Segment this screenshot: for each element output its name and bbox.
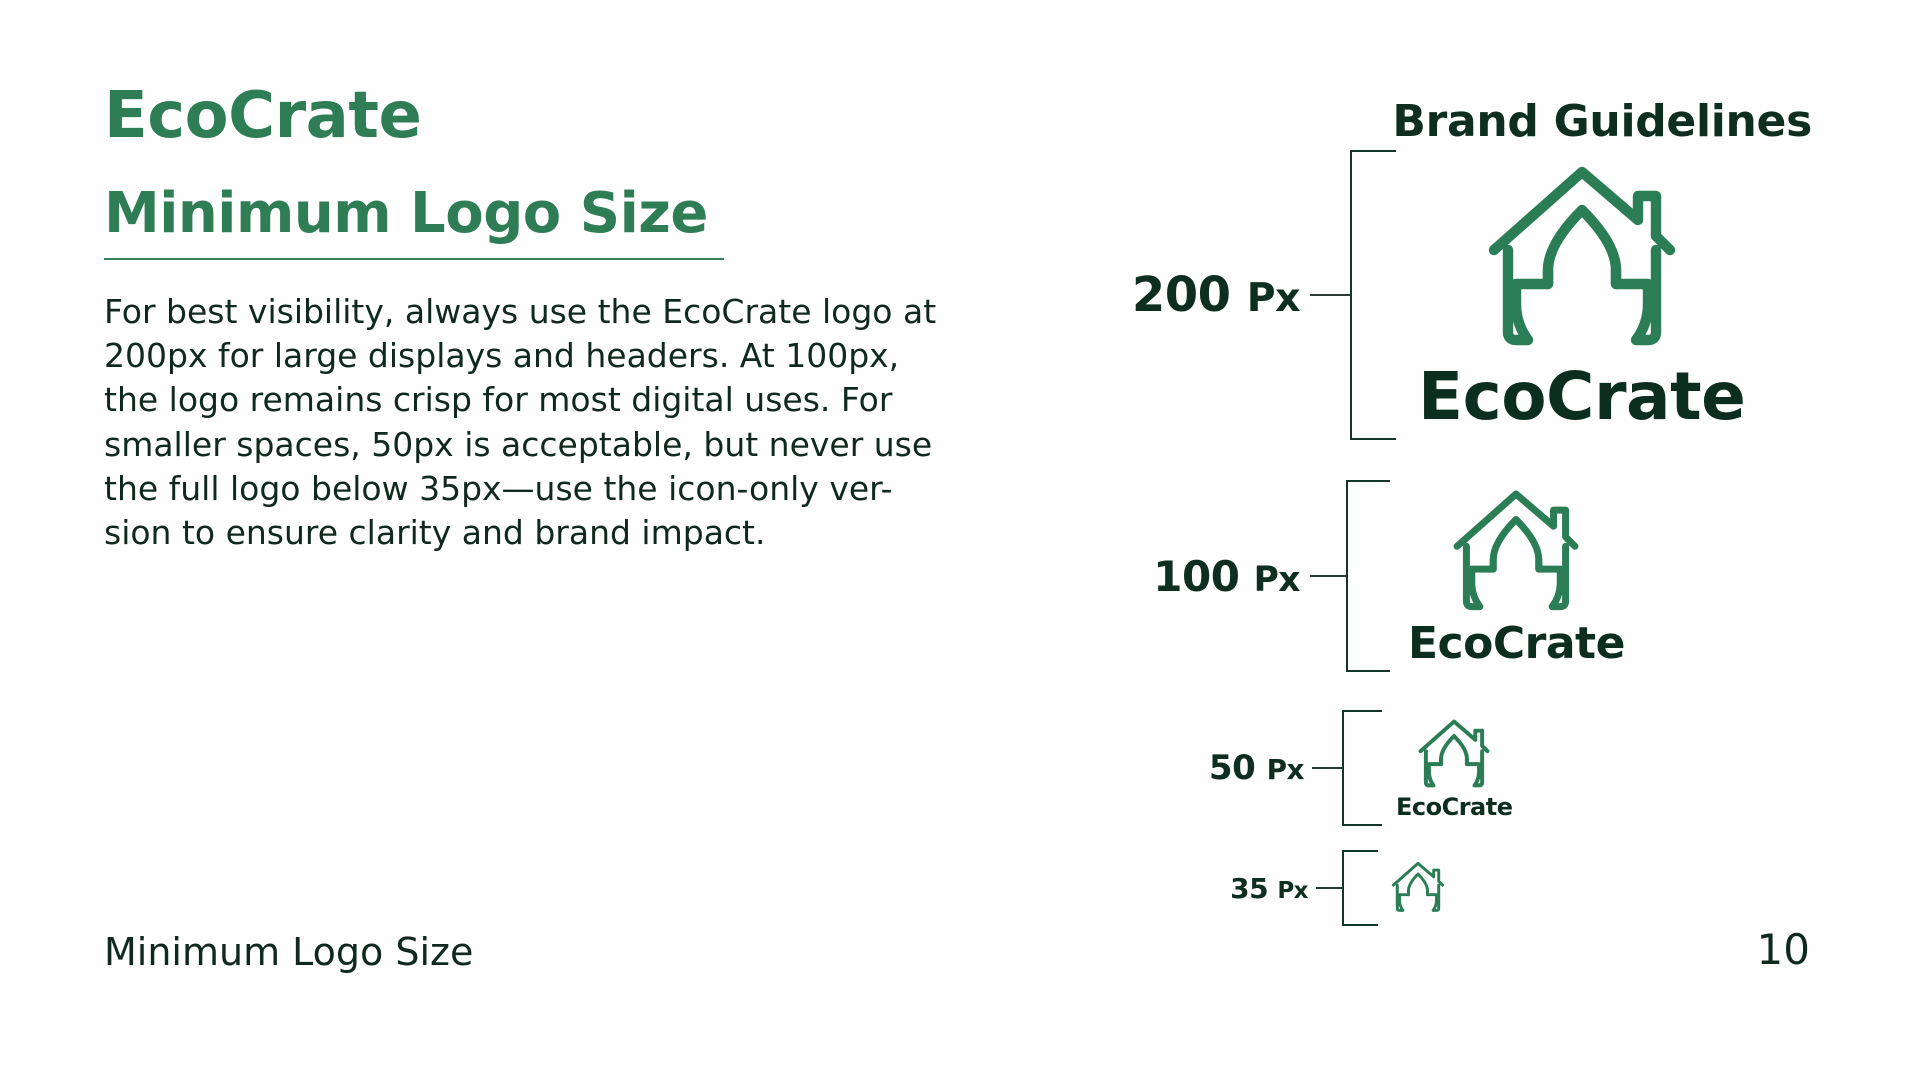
logo-wordmark-50: EcoCrate (1396, 795, 1513, 819)
ecocrate-house-leaf-icon (1482, 160, 1682, 360)
measure-bracket-35 (1342, 850, 1378, 926)
size-label-unit: Px (1277, 878, 1308, 904)
size-label-unit: Px (1247, 275, 1300, 321)
size-spec-row-35: 35 Px (1130, 850, 1446, 926)
leader-tick-35 (1316, 887, 1342, 889)
leader-tick-200 (1310, 294, 1350, 296)
size-label-number: 35 (1230, 872, 1268, 905)
measure-bracket-200 (1350, 150, 1396, 440)
ecocrate-house-leaf-icon (1416, 717, 1492, 793)
logo-wordmark-200: EcoCrate (1418, 364, 1745, 430)
heading-underline-rule (104, 258, 724, 260)
logo-lockup-200: EcoCrate (1418, 160, 1745, 430)
size-label-35: 35 Px (1130, 872, 1308, 905)
left-content-column: EcoCrate Minimum Logo Size For best visi… (104, 84, 984, 555)
body-line: 200px for large displays and headers. At… (104, 334, 966, 378)
size-label-number: 50 (1209, 748, 1255, 788)
size-spec-row-100: 100 Px EcoCrate (1040, 480, 1625, 672)
leader-tick-100 (1310, 575, 1346, 577)
size-label-unit: Px (1254, 560, 1300, 600)
slide-canvas: EcoCrate Minimum Logo Size For best visi… (0, 0, 1920, 1080)
page-number: 10 (1757, 925, 1810, 974)
size-label-50: 50 Px (1094, 748, 1304, 788)
footer-section-label: Minimum Logo Size (104, 930, 473, 974)
size-label-number: 100 (1153, 552, 1239, 601)
page-title: Minimum Logo Size (104, 186, 984, 242)
size-label-number: 200 (1132, 267, 1231, 323)
size-spec-row-50: 50 Px EcoCrate (1094, 710, 1513, 826)
ecocrate-house-leaf-icon (1449, 486, 1583, 620)
body-line: the logo remains crisp for most digital … (104, 378, 966, 422)
size-label-100: 100 Px (1040, 552, 1300, 601)
brand-title: EcoCrate (104, 84, 984, 148)
size-label-200: 200 Px (1000, 267, 1300, 323)
body-line: sion to ensure clarity and brand impact. (104, 511, 966, 555)
body-paragraph: For best visibility, always use the EcoC… (104, 290, 966, 555)
body-line: the full logo below 35px—use the icon-on… (104, 467, 966, 511)
logo-lockup-100: EcoCrate (1408, 486, 1625, 666)
body-line: smaller spaces, 50px is acceptable, but … (104, 423, 966, 467)
ecocrate-house-leaf-icon (1390, 860, 1446, 916)
measure-bracket-50 (1342, 710, 1382, 826)
logo-wordmark-100: EcoCrate (1408, 622, 1625, 666)
body-line: For best visibility, always use the EcoC… (104, 290, 966, 334)
logo-lockup-35 (1390, 860, 1446, 916)
logo-lockup-50: EcoCrate (1396, 717, 1513, 819)
leader-tick-50 (1312, 767, 1342, 769)
size-spec-row-200: 200 Px EcoCrate (1000, 150, 1745, 440)
measure-bracket-100 (1346, 480, 1390, 672)
brand-guidelines-header: Brand Guidelines (1392, 96, 1812, 147)
size-label-unit: Px (1267, 753, 1304, 786)
